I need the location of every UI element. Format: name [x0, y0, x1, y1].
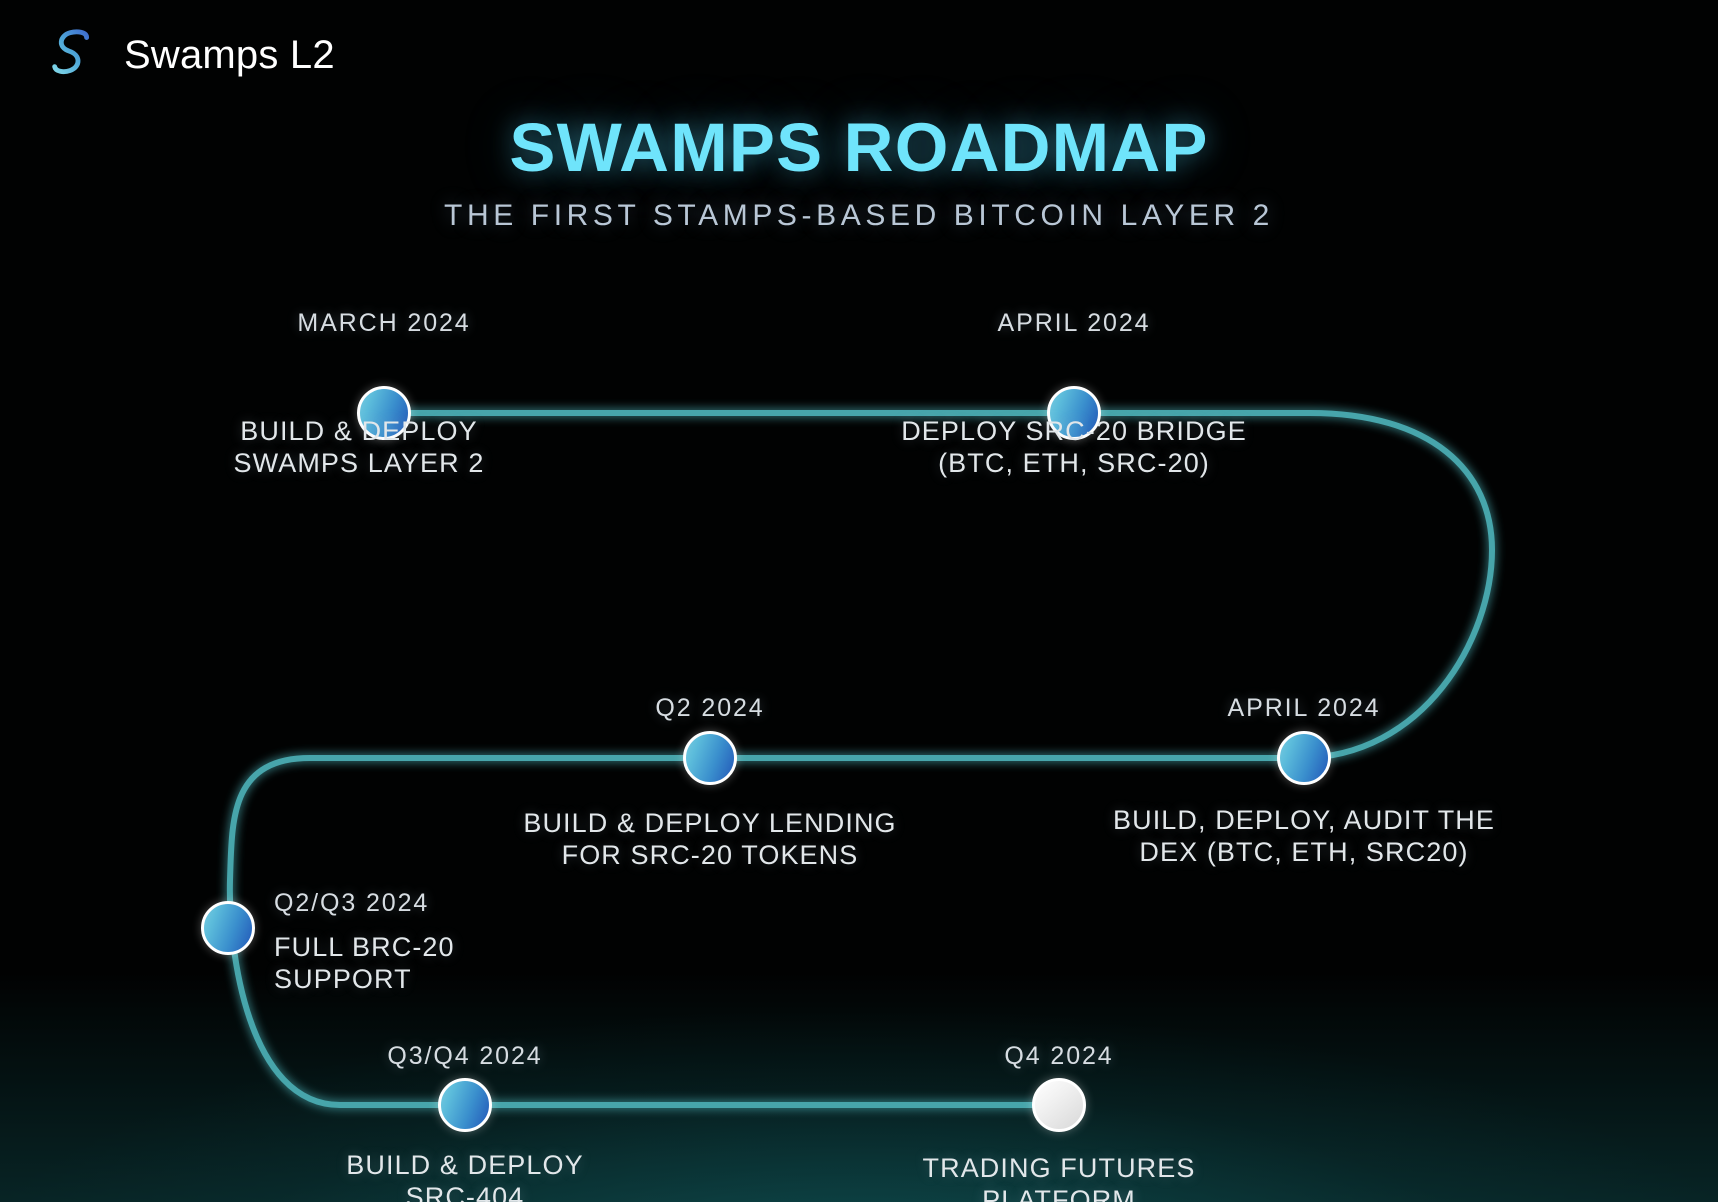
milestone-desc-march-2024: BUILD & DEPLOY SWAMPS LAYER 2 [234, 416, 485, 480]
milestone-date-march-2024: MARCH 2024 [297, 311, 470, 336]
milestone-desc-q3-q4-2024: BUILD & DEPLOY SRC-404 [346, 1150, 583, 1202]
milestone-desc-q2-q3-2024: FULL BRC-20 SUPPORT [274, 932, 455, 996]
milestone-desc-april-2024-dex: BUILD, DEPLOY, AUDIT THE DEX (BTC, ETH, … [1113, 805, 1495, 869]
milestone-desc-q2-2024: BUILD & DEPLOY LENDING FOR SRC-20 TOKENS [523, 808, 896, 872]
swamps-hash-logo-icon [44, 24, 106, 86]
milestone-node-q2-2024[interactable] [683, 731, 737, 785]
milestone-date-q2-2024: Q2 2024 [655, 696, 764, 721]
brand-name: Swamps L2 [124, 35, 335, 75]
page-subtitle: THE FIRST STAMPS-BASED BITCOIN LAYER 2 [0, 199, 1718, 232]
background-glow-lower [0, 972, 1718, 1202]
milestone-date-april-2024-bridge: APRIL 2024 [998, 311, 1151, 336]
milestone-node-april-2024-dex[interactable] [1277, 731, 1331, 785]
milestone-date-q3-q4-2024: Q3/Q4 2024 [387, 1044, 542, 1069]
milestone-desc-q4-2024: TRADING FUTURES PLATFORM [923, 1153, 1196, 1202]
milestone-node-q3-q4-2024[interactable] [438, 1078, 492, 1132]
page-title: SWAMPS ROADMAP [0, 112, 1718, 184]
milestone-node-q2-q3-2024[interactable] [201, 901, 255, 955]
brand-logo-block[interactable]: Swamps L2 [44, 24, 335, 86]
milestone-desc-april-2024-bridge: DEPLOY SRC-20 BRIDGE (BTC, ETH, SRC-20) [901, 416, 1247, 480]
milestone-date-april-2024-dex: APRIL 2024 [1228, 696, 1381, 721]
milestone-date-q2-q3-2024: Q2/Q3 2024 [274, 891, 429, 916]
milestone-date-q4-2024: Q4 2024 [1004, 1044, 1113, 1069]
roadmap-infographic: Swamps L2 SWAMPS ROADMAP THE FIRST STAMP… [0, 0, 1718, 1202]
milestone-node-q4-2024[interactable] [1032, 1078, 1086, 1132]
